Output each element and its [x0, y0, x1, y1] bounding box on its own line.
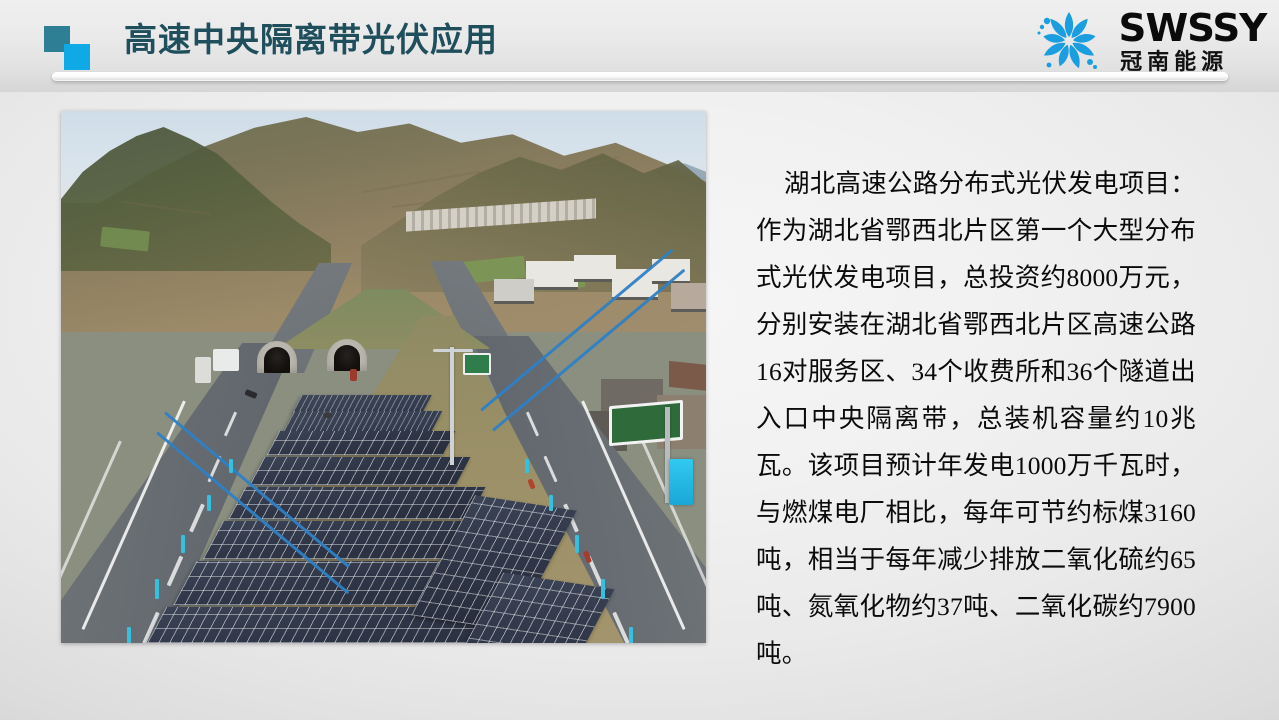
photo-green-billboard	[609, 400, 683, 446]
photo-light-pole-arm	[453, 349, 473, 352]
photo-guardrail-post	[181, 535, 185, 553]
photo-guardrail-post	[207, 495, 211, 511]
logo-text-block: SWSSY 冠南能源	[1120, 7, 1265, 75]
decorative-squares-icon	[40, 22, 100, 68]
photo-guardrail-post	[229, 459, 233, 473]
photo-solar-row	[228, 487, 485, 519]
water-droplet-radial-logo-icon	[1028, 5, 1110, 77]
photo-white-structure	[195, 357, 211, 383]
photo-house	[671, 283, 706, 312]
photo-house	[574, 255, 616, 282]
photo-vehicle	[323, 413, 332, 418]
photo-guardrail-post	[575, 535, 579, 553]
photo-cyan-road-sign	[669, 459, 693, 505]
photo-guardrail-post	[525, 459, 529, 473]
photo-solar-row	[284, 411, 443, 431]
photo-solar-row	[250, 457, 471, 485]
slide-root: 高速中央隔离带光伏应用	[0, 0, 1279, 720]
brand-logo: SWSSY 冠南能源	[1028, 2, 1265, 80]
photo-white-structure	[213, 349, 239, 371]
photo-solar-row	[267, 431, 456, 455]
photo-light-pole	[450, 347, 454, 465]
photo-guardrail-post	[127, 627, 131, 643]
photo-guardrail-post	[155, 579, 159, 599]
page-title: 高速中央隔离带光伏应用	[124, 18, 498, 62]
project-description: 湖北高速公路分布式光伏发电项目：作为湖北省鄂西北片区第一个大型分布式光伏发电项目…	[756, 160, 1196, 677]
project-photo	[61, 111, 706, 643]
photo-guardrail-post	[629, 627, 633, 643]
photo-guardrail-post	[601, 579, 605, 599]
photo-house	[494, 279, 534, 304]
logo-wordmark: SWSSY	[1119, 9, 1267, 47]
photo-village-roof-row	[406, 198, 596, 231]
photo-guardrail-post	[549, 495, 553, 511]
photo-road-sign-small	[463, 353, 491, 375]
photo-tunnel-opening-left	[264, 347, 290, 373]
photo-roof	[669, 361, 706, 391]
header-divider	[52, 72, 1228, 81]
photo-vehicle	[350, 369, 357, 381]
photo-light-pole-arm	[433, 349, 453, 352]
slide-header: 高速中央隔离带光伏应用	[0, 0, 1279, 92]
square-bright-icon	[64, 44, 90, 70]
photo-tunnel-opening-right	[334, 345, 360, 371]
